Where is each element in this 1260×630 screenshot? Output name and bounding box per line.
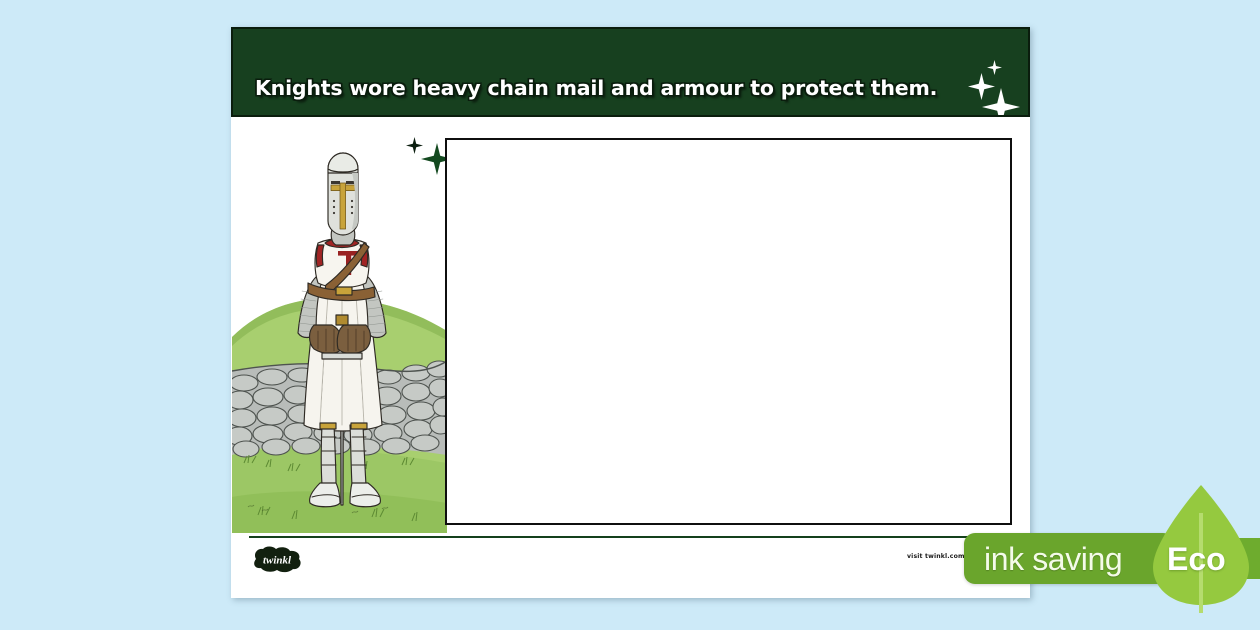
header-instruction-text: Knights wore heavy chain mail and armour…: [255, 45, 955, 117]
worksheet-page: Knights wore heavy chain mail and armour…: [231, 27, 1030, 598]
footer-divider: [249, 536, 1012, 538]
knight-illustration: [232, 125, 447, 533]
sparkle-large-icon: [982, 88, 1020, 117]
twinkl-logo-text: twinkl: [263, 555, 292, 567]
drawing-area-box[interactable]: [445, 138, 1012, 525]
header-banner: Knights wore heavy chain mail and armour…: [231, 27, 1030, 117]
eco-label: Eco: [1167, 542, 1226, 576]
eco-ink-saving-label: ink saving: [984, 542, 1122, 576]
header-line-1: Knights wore heavy chain mail and armour…: [255, 74, 955, 103]
sparkle-medium-icon: [968, 73, 995, 100]
twinkl-logo[interactable]: twinkl: [249, 545, 305, 574]
sparkle-small-icon: [987, 60, 1002, 75]
visit-url-text[interactable]: visit twinkl.com: [907, 553, 965, 560]
